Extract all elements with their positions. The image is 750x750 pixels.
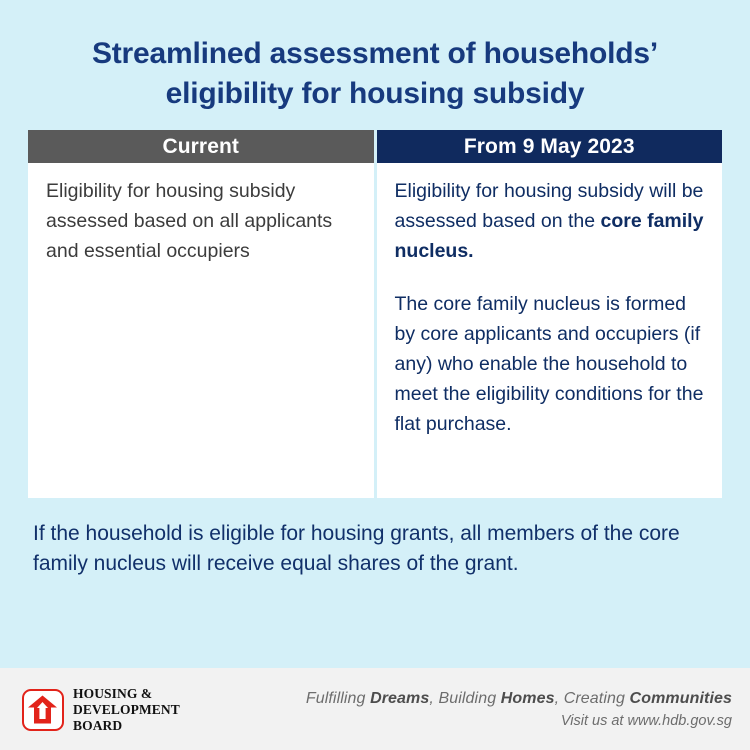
future-paragraph-1: Eligibility for housing subsidy will be …: [395, 177, 707, 266]
tagline-bold-dreams: Dreams: [370, 690, 429, 707]
footer-bar: HOUSING & DEVELOPMENT BOARD Fulfilling D…: [0, 668, 750, 750]
tagline-bold-communities: Communities: [630, 690, 732, 707]
tagline-part-1: Fulfilling: [306, 690, 370, 707]
tagline-part-3: , Creating: [555, 690, 630, 707]
hdb-logo-text: HOUSING & DEVELOPMENT BOARD: [73, 686, 180, 734]
tagline-bold-homes: Homes: [501, 690, 555, 707]
hdb-logo: HOUSING & DEVELOPMENT BOARD: [22, 686, 180, 734]
column-body-future: Eligibility for housing subsidy will be …: [377, 163, 723, 498]
footnote-text: If the household is eligible for housing…: [33, 519, 723, 579]
footer-website-line: Visit us at www.hdb.gov.sg: [306, 713, 732, 729]
page-title: Streamlined assessment of households’ el…: [40, 34, 710, 114]
table-column-future: From 9 May 2023 Eligibility for housing …: [377, 130, 723, 498]
column-header-future: From 9 May 2023: [377, 130, 723, 163]
future-paragraph-2: The core family nucleus is formed by cor…: [395, 290, 707, 439]
tagline-line: Fulfilling Dreams, Building Homes, Creat…: [306, 690, 732, 708]
comparison-table: Current Eligibility for housing subsidy …: [28, 130, 722, 498]
column-body-current: Eligibility for housing subsidy assessed…: [28, 163, 374, 498]
tagline-part-2: , Building: [429, 690, 500, 707]
table-column-current: Current Eligibility for housing subsidy …: [28, 130, 374, 498]
current-paragraph-1: Eligibility for housing subsidy assessed…: [46, 177, 358, 266]
hdb-house-arrow-icon: [22, 689, 64, 731]
column-header-current: Current: [28, 130, 374, 163]
footer-tagline: Fulfilling Dreams, Building Homes, Creat…: [306, 690, 732, 729]
